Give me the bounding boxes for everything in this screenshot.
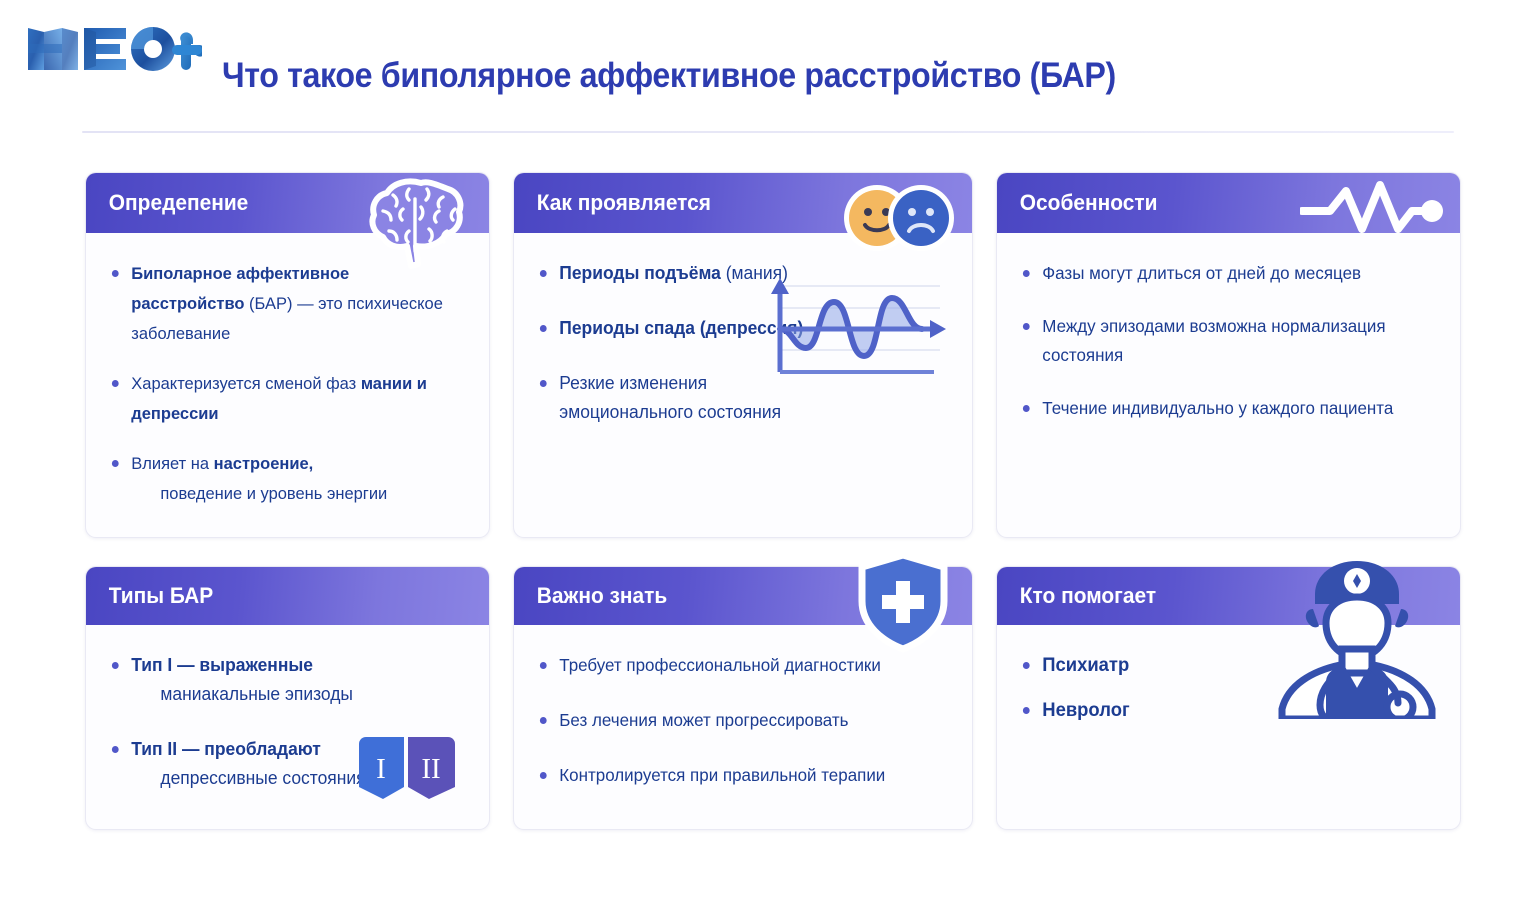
cards-grid: Опредепение [85, 172, 1455, 830]
list-item: Невролог [1019, 696, 1425, 725]
bullet-list-who-helps: Психиатр Невролог [1019, 651, 1438, 725]
card-header-types: Типы БАР [86, 567, 489, 625]
list-item: Тип I — выраженныеманиакальные эпизоды [108, 651, 456, 709]
card-body-features: Фазы могут длиться от дней до месяцев Ме… [997, 233, 1460, 457]
card-body-who-helps: Психиатр Невролог [997, 625, 1460, 751]
card-body-types: Тип I — выраженныеманиакальные эпизоды Т… [86, 625, 489, 829]
list-item: Без лечения может прогрессировать [536, 706, 938, 735]
card-header-important: Важно знать [514, 567, 972, 625]
card-who-helps: Кто помогает [996, 566, 1461, 830]
card-manifestation: Как проявляется Периоды подъёма ( [513, 172, 973, 538]
badge-label-one: I [376, 753, 386, 785]
card-body-definition: Биполарное аффективное расстройство (БАР… [86, 233, 489, 539]
card-header-manifestation: Как проявляется [514, 173, 972, 233]
card-title-features: Особенности [997, 190, 1157, 216]
mood-wave-chart [762, 272, 952, 389]
list-item: Биполарное аффективное расстройство (БАР… [108, 259, 456, 349]
list-item: Характеризуется сменой фаз мании и депре… [108, 369, 456, 429]
list-item: Контролируется при правильной терапии [536, 761, 938, 790]
card-title-definition: Опредепение [86, 190, 248, 216]
page-title: Что такое биполярное аффективное расстро… [222, 56, 1116, 96]
list-item: Фазы могут длиться от дней до месяцев [1019, 259, 1425, 288]
card-header-who-helps: Кто помогает [997, 567, 1460, 625]
bullet-list-important: Требует профессиональной диагностики Без… [536, 651, 950, 790]
card-title-important: Важно знать [514, 583, 667, 609]
card-definition: Опредепение [85, 172, 490, 538]
logo-svg [22, 18, 202, 80]
bullet-list-definition: Биполарное аффективное расстройство (БАР… [108, 259, 467, 509]
card-header-features: Особенности [997, 173, 1460, 233]
title-divider [82, 131, 1454, 133]
list-item: Психиатр [1019, 651, 1425, 680]
card-types: Типы БАР Тип I — выраженныеманиакальные … [85, 566, 490, 830]
card-body-important: Требует профессиональной диагностики Без… [514, 625, 972, 826]
card-header-definition: Опредепение [86, 173, 489, 233]
type-badges-icon: I II [355, 734, 467, 813]
card-body-manifestation: Периоды подъёма (мания) Периоды спада (д… [514, 233, 972, 463]
card-important: Важно знать Требует профессиональной диа… [513, 566, 973, 830]
list-item: Требует профессиональной диагностики [536, 651, 938, 680]
badge-label-two: II [421, 753, 440, 785]
card-title-manifestation: Как проявляется [514, 190, 711, 216]
card-title-types: Типы БАР [86, 583, 213, 609]
card-title-who-helps: Кто помогает [997, 583, 1156, 609]
list-item: Между эпизодами возможна нормализация со… [1019, 312, 1425, 370]
list-item: Течение индивидуально у каждого пациента [1019, 394, 1425, 423]
list-item: Влияет на настроение,поведение и уровень… [108, 449, 456, 509]
neo-plus-logo [22, 18, 202, 80]
bullet-list-features: Фазы могут длиться от дней до месяцев Ме… [1019, 259, 1438, 423]
card-features: Особенности Фазы могут длиться от дней д… [996, 172, 1461, 538]
